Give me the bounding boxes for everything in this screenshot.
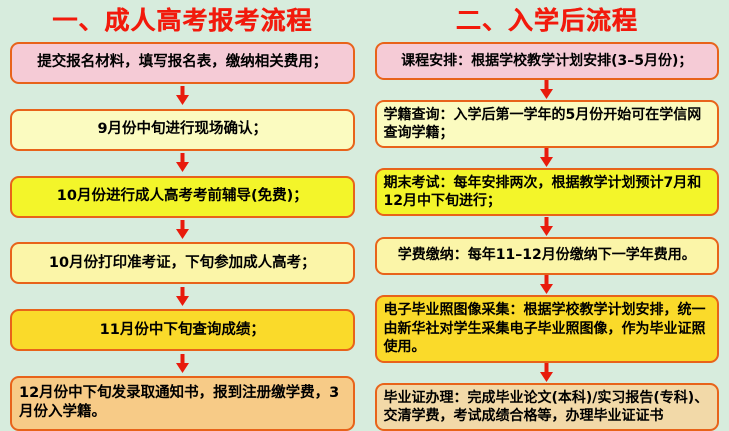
flow-node-right-6-text: 毕业证办理：完成毕业论文(本科)/实习报告(专科)、交清学费，考试成绩合格等，办… [384, 389, 711, 426]
flow-steps-left: 提交报名材料，填写报名表，缴纳相关费用； 9月份中旬进行现场确认； 10月份进行… [10, 42, 355, 431]
flow-node-right-6[interactable]: 毕业证办理：完成毕业论文(本科)/实习报告(专科)、交清学费，考试成绩合格等，办… [375, 383, 720, 431]
flow-node-right-1[interactable]: 课程安排：根据学校教学计划安排(3–5月份)； [375, 42, 720, 80]
flow-node-left-2[interactable]: 9月份中旬进行现场确认； [10, 109, 355, 151]
flow-arrow-right-1 [375, 80, 720, 100]
flow-node-left-6[interactable]: 12月份中下旬发录取通知书，报到注册缴学费，3月份入学籍。 [10, 376, 355, 431]
flow-node-right-4[interactable]: 学费缴纳：每年11–12月份缴纳下一学年费用。 [375, 237, 720, 275]
down-arrow-icon [539, 363, 554, 383]
flow-node-left-5-text: 11月份中下旬查询成绩； [19, 321, 346, 340]
flow-arrow-right-4 [375, 275, 720, 295]
flow-node-left-3-text: 10月份进行成人高考考前辅导(免费)； [19, 187, 346, 206]
flow-node-left-4-text: 10月份打印准考证，下旬参加成人高考； [19, 254, 346, 273]
flow-node-right-1-text: 课程安排：根据学校教学计划安排(3–5月份)； [384, 52, 711, 70]
flow-arrow-left-2 [10, 151, 355, 176]
flow-node-left-6-text: 12月份中下旬发录取通知书，报到注册缴学费，3月份入学籍。 [19, 384, 346, 422]
flow-arrow-left-3 [10, 218, 355, 243]
column-title-right: 二、入学后流程 [375, 0, 720, 42]
flowchart-canvas: 一、成人高考报考流程 提交报名材料，填写报名表，缴纳相关费用； 9月份中旬进行现… [0, 0, 729, 431]
flow-node-left-2-text: 9月份中旬进行现场确认； [19, 120, 346, 139]
flow-column-left: 一、成人高考报考流程 提交报名材料，填写报名表，缴纳相关费用； 9月份中旬进行现… [0, 0, 365, 431]
flow-steps-right: 课程安排：根据学校教学计划安排(3–5月份)； 学籍查询：入学后第一学年的5月份… [375, 42, 720, 431]
flow-arrow-right-5 [375, 363, 720, 383]
flow-arrow-left-4 [10, 284, 355, 309]
flow-arrow-left-1 [10, 84, 355, 109]
down-arrow-icon [539, 217, 554, 237]
flow-node-right-2-text: 学籍查询：入学后第一学年的5月份开始可在学信网查询学籍； [384, 106, 711, 143]
flow-node-left-1-text: 提交报名材料，填写报名表，缴纳相关费用； [19, 53, 346, 72]
flow-node-left-3[interactable]: 10月份进行成人高考考前辅导(免费)； [10, 176, 355, 218]
down-arrow-icon [175, 220, 190, 240]
flow-node-left-1[interactable]: 提交报名材料，填写报名表，缴纳相关费用； [10, 42, 355, 84]
flow-column-right: 二、入学后流程 课程安排：根据学校教学计划安排(3–5月份)； 学籍查询：入学后… [365, 0, 729, 431]
flow-node-left-5[interactable]: 11月份中下旬查询成绩； [10, 309, 355, 351]
flow-node-right-4-text: 学费缴纳：每年11–12月份缴纳下一学年费用。 [384, 246, 711, 264]
flow-arrow-right-2 [375, 148, 720, 168]
flow-node-right-5[interactable]: 电子毕业照图像采集：根据学校教学计划安排，统一由新华社对学生采集电子毕业照图像，… [375, 295, 720, 363]
flow-node-right-3[interactable]: 期末考试：每年安排两次，根据教学计划预计7月和12月中下旬进行； [375, 168, 720, 216]
flow-node-right-2[interactable]: 学籍查询：入学后第一学年的5月份开始可在学信网查询学籍； [375, 100, 720, 148]
flow-arrow-right-3 [375, 216, 720, 236]
flow-arrow-left-5 [10, 351, 355, 376]
column-title-left: 一、成人高考报考流程 [10, 0, 355, 42]
down-arrow-icon [539, 148, 554, 168]
down-arrow-icon [175, 153, 190, 173]
down-arrow-icon [539, 80, 554, 100]
down-arrow-icon [175, 354, 190, 374]
down-arrow-icon [175, 86, 190, 106]
flow-node-right-3-text: 期末考试：每年安排两次，根据教学计划预计7月和12月中下旬进行； [384, 174, 711, 211]
down-arrow-icon [539, 275, 554, 295]
down-arrow-icon [175, 287, 190, 307]
flow-node-left-4[interactable]: 10月份打印准考证，下旬参加成人高考； [10, 242, 355, 284]
flow-node-right-5-text: 电子毕业照图像采集：根据学校教学计划安排，统一由新华社对学生采集电子毕业照图像，… [384, 301, 711, 356]
